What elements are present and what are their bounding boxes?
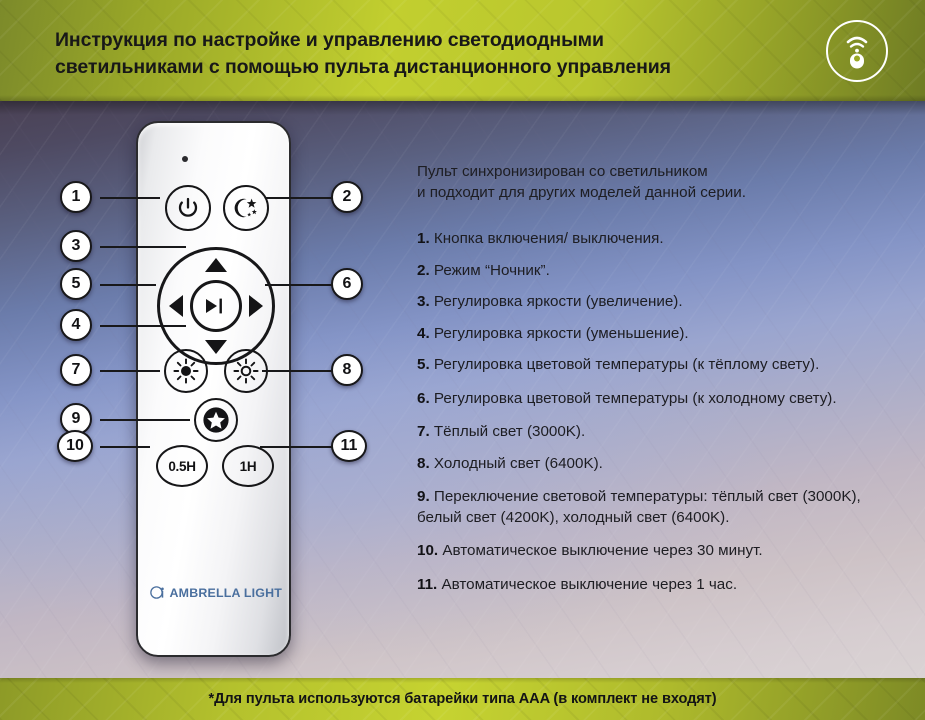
list-item: 7. Тёплый свет (3000K). <box>417 422 887 443</box>
sun-outline-icon <box>233 358 259 384</box>
list-item-number: 10. <box>417 542 438 559</box>
page-title-line1: Инструкция по настройке и управлению све… <box>55 29 604 51</box>
ambrella-droplet-icon <box>150 584 165 601</box>
callout-7-label: 7 <box>72 361 81 379</box>
callout-2[interactable]: 2 <box>331 181 363 213</box>
list-item: 8. Холодный свет (6400K). <box>417 454 887 475</box>
temperature-warmer-button[interactable] <box>169 295 183 317</box>
list-item: 6. Регулировка цветовой температуры (к х… <box>417 389 887 410</box>
callout-2-label: 2 <box>343 188 352 206</box>
play-pause-button[interactable] <box>190 280 242 332</box>
callout-10-label: 10 <box>66 437 84 455</box>
brightness-down-button[interactable] <box>205 340 227 354</box>
list-item-text: Регулировка яркости (уменьшение). <box>434 325 689 342</box>
warm-light-button[interactable] <box>164 349 208 393</box>
callout-6-label: 6 <box>343 275 352 293</box>
list-item-number: 6. <box>417 390 430 407</box>
callout-5-label: 5 <box>72 275 81 293</box>
ir-led-dot <box>182 156 188 162</box>
callout-3-label: 3 <box>72 237 81 255</box>
battery-note: *Для пульта используются батарейки типа … <box>209 691 717 707</box>
main-content: 0.5H 1H AMBRELLA LIGHT <box>0 101 925 678</box>
brightness-up-button[interactable] <box>205 258 227 272</box>
list-item-number: 5. <box>417 356 430 373</box>
list-item: 4. Регулировка яркости (уменьшение). <box>417 324 887 345</box>
list-item: 11. Автоматическое выключение через 1 ча… <box>417 575 887 596</box>
instruction-poster: Инструкция по настройке и управлению све… <box>0 0 925 720</box>
list-item-number: 8. <box>417 455 430 472</box>
temperature-cooler-button[interactable] <box>249 295 263 317</box>
list-item-number: 9. <box>417 488 430 505</box>
callout-9-label: 9 <box>72 410 81 428</box>
callout-3[interactable]: 3 <box>60 230 92 262</box>
leader-line-9 <box>100 419 190 421</box>
night-mode-button[interactable] <box>223 185 269 231</box>
remote-body: 0.5H 1H AMBRELLA LIGHT <box>136 121 291 657</box>
list-item-text: Регулировка цветовой температуры (к холо… <box>434 390 837 407</box>
leader-line-1 <box>100 197 160 199</box>
callout-1[interactable]: 1 <box>60 181 92 213</box>
intro-line1: Пульт синхронизирован со светильником <box>417 163 708 180</box>
leader-line-8 <box>262 370 332 372</box>
leader-line-6 <box>265 284 332 286</box>
callout-11[interactable]: 11 <box>331 430 367 462</box>
list-item-text: Автоматическое выключение через 30 минут… <box>442 542 762 559</box>
callout-6[interactable]: 6 <box>331 268 363 300</box>
list-item-text: Холодный свет (6400K). <box>434 455 603 472</box>
play-pause-icon <box>203 297 229 315</box>
callout-4-label: 4 <box>72 316 81 334</box>
list-item-number: 1. <box>417 230 430 247</box>
leader-line-11 <box>260 446 332 448</box>
list-item-text: Режим “Ночник”. <box>434 262 550 279</box>
list-item-number: 11. <box>417 576 437 593</box>
list-item: 10. Автоматическое выключение через 30 м… <box>417 541 887 562</box>
intro-text: Пульт синхронизирован со светильником и … <box>417 161 887 203</box>
temperature-toggle-button[interactable] <box>194 398 238 442</box>
star-filled-icon <box>201 405 231 435</box>
timer-1h-button[interactable]: 1H <box>222 445 274 487</box>
brand-logo: AMBRELLA LIGHT <box>150 584 282 601</box>
leader-line-10 <box>100 446 150 448</box>
list-item: 3. Регулировка яркости (увеличение). <box>417 292 887 313</box>
timer-30min-label: 0.5H <box>168 459 195 474</box>
leader-line-5 <box>100 284 156 286</box>
remote-illustration: 0.5H 1H AMBRELLA LIGHT <box>0 101 410 678</box>
callout-11-label: 11 <box>341 437 358 455</box>
list-item: 2. Режим “Ночник”. <box>417 261 887 282</box>
moon-stars-icon <box>233 196 259 220</box>
list-item: 1. Кнопка включения/ выключения. <box>417 229 887 250</box>
instructions-panel: Пульт синхронизирован со светильником и … <box>417 161 887 606</box>
list-item-text: Переключение световой температуры: тёплы… <box>417 488 861 526</box>
header-bar: Инструкция по настройке и управлению све… <box>0 0 925 101</box>
list-item-number: 2. <box>417 262 430 279</box>
list-item-number: 4. <box>417 325 430 342</box>
leader-line-4 <box>100 325 186 327</box>
list-item: 5. Регулировка цветовой температуры (к т… <box>417 355 887 376</box>
list-item-text: Автоматическое выключение через 1 час. <box>442 576 738 593</box>
list-item-number: 7. <box>417 423 430 440</box>
footer-bar: *Для пульта используются батарейки типа … <box>0 678 925 720</box>
callout-8[interactable]: 8 <box>331 354 363 386</box>
dpad-ring <box>157 247 275 365</box>
callout-10[interactable]: 10 <box>57 430 93 462</box>
power-button[interactable] <box>165 185 211 231</box>
list-item-text: Регулировка цветовой температуры (к тёпл… <box>434 356 819 373</box>
list-item-text: Регулировка яркости (увеличение). <box>434 293 683 310</box>
list-item-text: Кнопка включения/ выключения. <box>434 230 664 247</box>
list-item: 9. Переключение световой температуры: тё… <box>417 487 887 528</box>
callout-4[interactable]: 4 <box>60 309 92 341</box>
leader-line-3 <box>100 246 186 248</box>
leader-line-7 <box>100 370 160 372</box>
leader-line-2 <box>266 197 332 199</box>
power-icon <box>177 197 199 219</box>
callout-7[interactable]: 7 <box>60 354 92 386</box>
brand-name: AMBRELLA LIGHT <box>170 586 282 600</box>
intro-line2: и подходит для других моделей данной сер… <box>417 182 887 203</box>
page-title-line2: светильниками с помощью пульта дистанцио… <box>55 54 745 81</box>
sun-filled-icon <box>173 358 199 384</box>
list-item-text: Тёплый свет (3000K). <box>434 423 585 440</box>
timer-1h-label: 1H <box>240 459 257 474</box>
callout-5[interactable]: 5 <box>60 268 92 300</box>
timer-30min-button[interactable]: 0.5H <box>156 445 208 487</box>
remote-signal-icon <box>826 20 888 82</box>
page-title: Инструкция по настройке и управлению све… <box>55 27 745 81</box>
list-item-number: 3. <box>417 293 430 310</box>
callout-8-label: 8 <box>343 361 352 379</box>
callout-1-label: 1 <box>72 188 81 206</box>
